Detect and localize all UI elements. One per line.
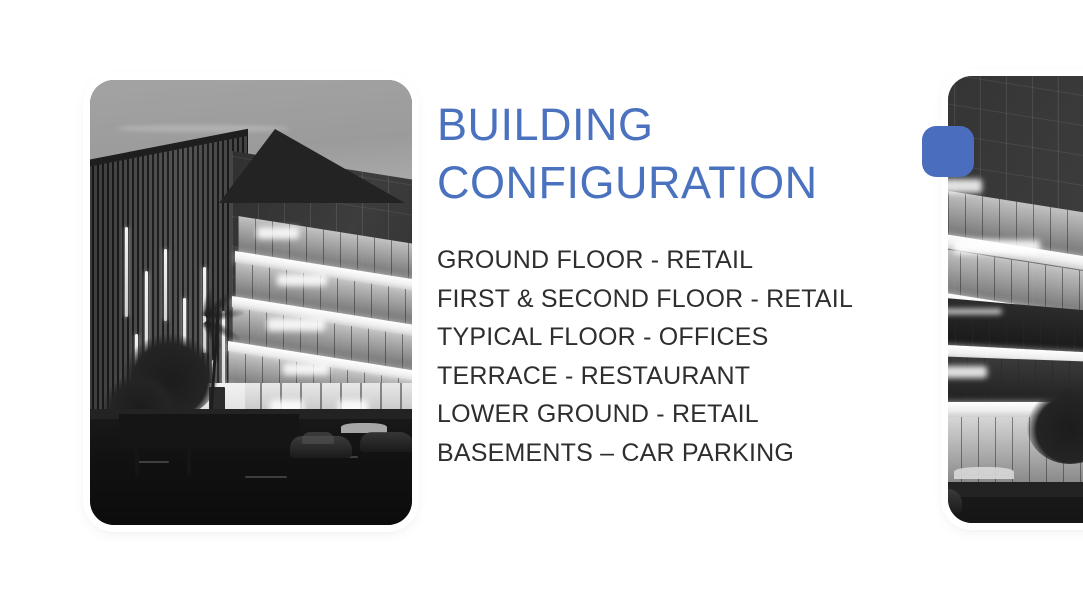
- facade-light-strip: [164, 249, 167, 321]
- road-marking: [135, 461, 169, 463]
- text-column: BUILDING CONFIGURATION GROUND FLOOR - RE…: [437, 96, 927, 472]
- car-windscreen: [302, 432, 334, 444]
- parked-car: [360, 432, 412, 452]
- building-image-left[interactable]: [90, 80, 412, 525]
- foreground-street: [948, 482, 1083, 523]
- road-marking: [245, 476, 287, 478]
- list-item: BASEMENTS – CAR PARKING: [437, 434, 927, 473]
- kerb: [948, 482, 1083, 498]
- interior-glow: [283, 363, 329, 375]
- floor-configuration-list: GROUND FLOOR - RETAIL FIRST & SECOND FLO…: [437, 241, 927, 472]
- interior-glow: [267, 318, 325, 331]
- fence-post: [135, 445, 139, 475]
- interior-glow: [277, 274, 327, 286]
- parked-car: [290, 436, 352, 458]
- site-hoarding: [119, 414, 299, 448]
- building-render-left: [90, 80, 412, 525]
- interior-glow: [954, 240, 1040, 254]
- list-item: GROUND FLOOR - RETAIL: [437, 241, 927, 280]
- linear-light-fixture: [948, 309, 1002, 314]
- facade-light-strip: [125, 227, 128, 317]
- street-canopy: [954, 467, 1014, 479]
- page-title: BUILDING CONFIGURATION: [437, 96, 927, 212]
- accent-square: [922, 126, 974, 177]
- list-item: TYPICAL FLOOR - OFFICES: [437, 318, 927, 357]
- list-item: LOWER GROUND - RETAIL: [437, 395, 927, 434]
- interior-glow: [948, 179, 982, 193]
- list-item: TERRACE - RESTAURANT: [437, 357, 927, 396]
- fence-post: [187, 445, 191, 475]
- slide-canvas: BUILDING CONFIGURATION GROUND FLOOR - RE…: [0, 0, 1083, 610]
- interior-glow: [948, 366, 987, 378]
- gable-roof: [219, 129, 405, 203]
- list-item: FIRST & SECOND FLOOR - RETAIL: [437, 280, 927, 319]
- interior-glow: [257, 227, 299, 239]
